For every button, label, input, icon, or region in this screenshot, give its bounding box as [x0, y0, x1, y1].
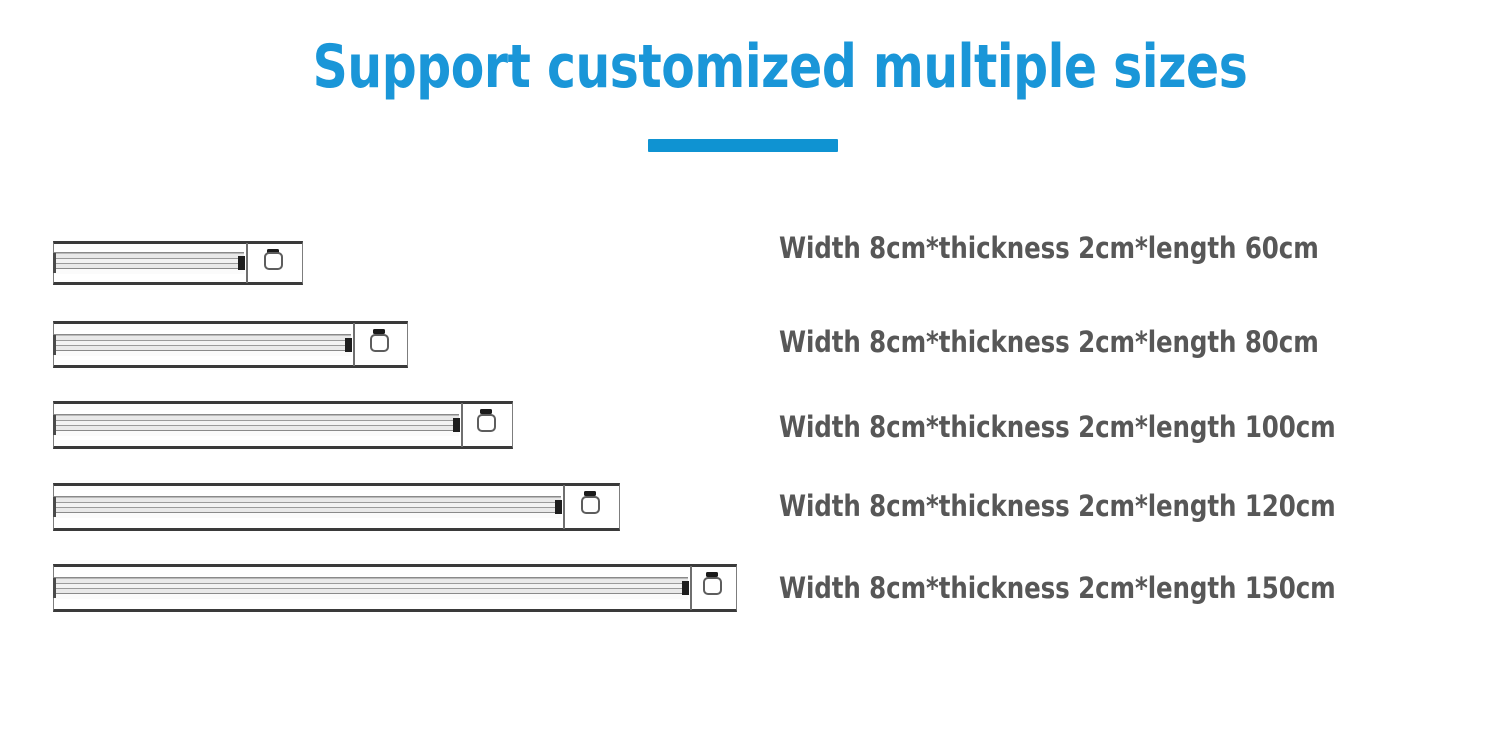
spec-label: Width 8cm*thickness 2cm*length 150cm: [779, 571, 1336, 605]
promo-banner: Support customized multiple sizes Width …: [0, 0, 1500, 753]
end-cap-divider-line: [563, 485, 565, 529]
channel-end-cap-left: [53, 497, 56, 517]
channel-end-cap-left: [53, 253, 56, 273]
end-cap-divider-line: [690, 566, 692, 610]
led-bar-150cm: [53, 564, 737, 612]
power-button-icon[interactable]: [477, 414, 496, 432]
diffuser-channel: [54, 334, 351, 356]
channel-connector-block: [682, 581, 689, 595]
diffuser-channel: [54, 414, 459, 436]
spec-label: Width 8cm*thickness 2cm*length 120cm: [779, 489, 1336, 523]
channel-connector-block: [345, 338, 352, 352]
power-button-icon[interactable]: [703, 577, 722, 595]
diffuser-channel: [54, 577, 688, 599]
end-cap-divider-line: [461, 403, 463, 447]
end-cap-divider-line: [246, 243, 248, 283]
diffuser-channel: [54, 496, 561, 518]
spec-label: Width 8cm*thickness 2cm*length 100cm: [779, 410, 1336, 444]
led-bar-80cm: [53, 321, 408, 368]
product-size-list: Width 8cm*thickness 2cm*length 60cmWidth…: [0, 0, 1500, 753]
channel-end-cap-left: [53, 335, 56, 355]
power-button-icon[interactable]: [370, 334, 389, 352]
channel-end-cap-left: [53, 578, 56, 598]
end-cap-divider-line: [353, 323, 355, 366]
spec-label: Width 8cm*thickness 2cm*length 80cm: [779, 325, 1319, 359]
channel-connector-block: [555, 500, 562, 514]
channel-connector-block: [453, 418, 460, 432]
led-bar-100cm: [53, 401, 513, 449]
led-bar-120cm: [53, 483, 620, 531]
spec-label: Width 8cm*thickness 2cm*length 60cm: [779, 231, 1319, 265]
channel-connector-block: [238, 256, 245, 270]
channel-end-cap-left: [53, 415, 56, 435]
power-button-icon[interactable]: [581, 496, 600, 514]
led-bar-60cm: [53, 241, 303, 285]
power-button-icon[interactable]: [264, 252, 283, 270]
diffuser-channel: [54, 252, 244, 274]
